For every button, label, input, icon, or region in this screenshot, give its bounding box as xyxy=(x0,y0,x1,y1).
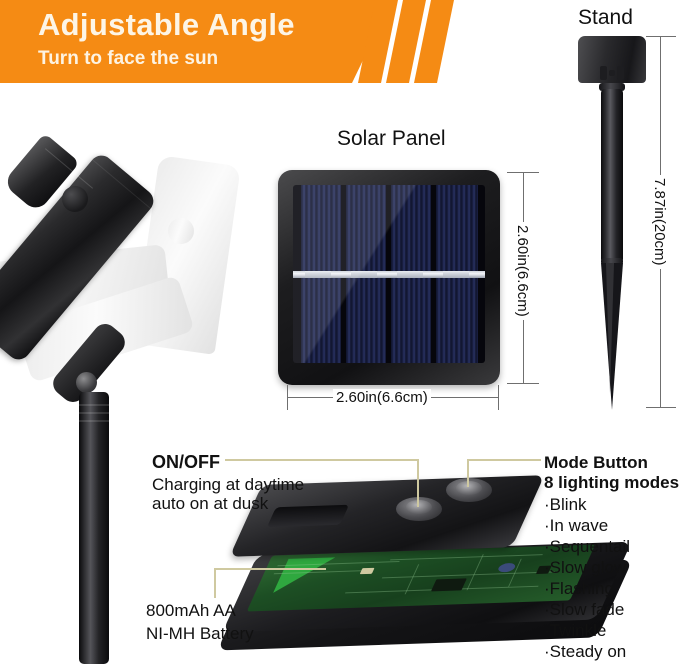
mode-list-item: ·In wave xyxy=(544,515,608,537)
solar-cell-area xyxy=(293,185,485,363)
onoff-leader-horizontal xyxy=(225,459,419,461)
mode-label: Sequentail xyxy=(550,537,630,556)
mode-list-item: ·Flashing xyxy=(544,578,614,600)
mode-label: In wave xyxy=(550,516,609,535)
stand-cap-bottom xyxy=(646,407,676,408)
panel-height-cap-top xyxy=(507,172,539,173)
pcb-trace-7 xyxy=(467,554,484,590)
panel-height-cap-bottom xyxy=(507,383,539,384)
battery-callout-line1: 800mAh AA xyxy=(146,600,236,621)
lamp-pole xyxy=(79,392,109,664)
mode-callout-subtitle: 8 lighting modes xyxy=(544,472,679,493)
mode-callout-title: Mode Button xyxy=(544,452,648,473)
stand-center-dot xyxy=(609,70,615,76)
onoff-callout-title: ON/OFF xyxy=(152,452,220,473)
stand-spike-highlight xyxy=(606,263,614,393)
banner-title: Adjustable Angle xyxy=(38,6,295,44)
mode-list-item: ·Twinkle xyxy=(544,620,606,642)
pcb-solder-pad xyxy=(360,568,375,574)
stand-notch-left xyxy=(600,66,607,80)
mode-label: Flashing xyxy=(550,579,614,598)
lamp-bolt xyxy=(76,372,97,393)
mode-list-item: ·Sequentail xyxy=(544,536,630,558)
panel-glare xyxy=(293,185,485,363)
mode-button-cap[interactable] xyxy=(456,481,482,495)
stand-heading: Stand xyxy=(578,6,633,30)
infographic-canvas: Adjustable Angle Turn to face the sun So… xyxy=(0,0,679,664)
mode-list-item: ·Steady on xyxy=(544,641,626,663)
stand-notch-right xyxy=(617,66,624,80)
mode-list-item: ·Slow fade xyxy=(544,599,624,621)
mode-label: Slow fade xyxy=(550,600,625,619)
onoff-leader-vertical xyxy=(417,459,419,507)
pole-ring-3 xyxy=(79,420,109,422)
onoff-button-cap[interactable] xyxy=(406,500,432,514)
onoff-callout-line1: Charging at daytime xyxy=(152,474,304,495)
panel-height-dimension-label: 2.60in(6.6cm) xyxy=(514,222,531,320)
battery-leader-horizontal xyxy=(214,568,326,570)
battery-callout-line2: NI-MH Battery xyxy=(146,623,254,644)
pcb-trace-4 xyxy=(382,571,555,578)
panel-width-cap-right xyxy=(498,385,499,410)
banner-subtitle: Turn to face the sun xyxy=(38,47,218,71)
stand-cap-top xyxy=(646,36,676,37)
mode-leader-vertical xyxy=(467,459,469,487)
onoff-callout-line2: auto on at dusk xyxy=(152,493,268,514)
pole-ring-2 xyxy=(79,412,109,414)
mode-list-item: ·Blink xyxy=(544,494,587,516)
mode-label: Steady on xyxy=(550,642,627,661)
stand-dimension-label: 7.87in(20cm) xyxy=(651,175,668,269)
mode-label: Twinkle xyxy=(550,621,607,640)
pole-ring-1 xyxy=(79,404,109,406)
lid-cable-slot xyxy=(267,505,349,528)
mode-label: Slow glow xyxy=(550,558,627,577)
stand-tube xyxy=(601,89,623,263)
pcb-chip-1 xyxy=(431,578,467,591)
solar-panel-heading: Solar Panel xyxy=(337,127,446,151)
mode-list-item: ·Slow glow xyxy=(544,557,626,579)
mode-label: Blink xyxy=(550,495,587,514)
panel-width-dimension-label: 2.60in(6.6cm) xyxy=(333,389,431,406)
mode-leader-horizontal xyxy=(467,459,541,461)
lamp-pivot-knob xyxy=(62,186,88,212)
panel-width-cap-left xyxy=(287,385,288,410)
battery-leader-vertical xyxy=(214,568,216,598)
